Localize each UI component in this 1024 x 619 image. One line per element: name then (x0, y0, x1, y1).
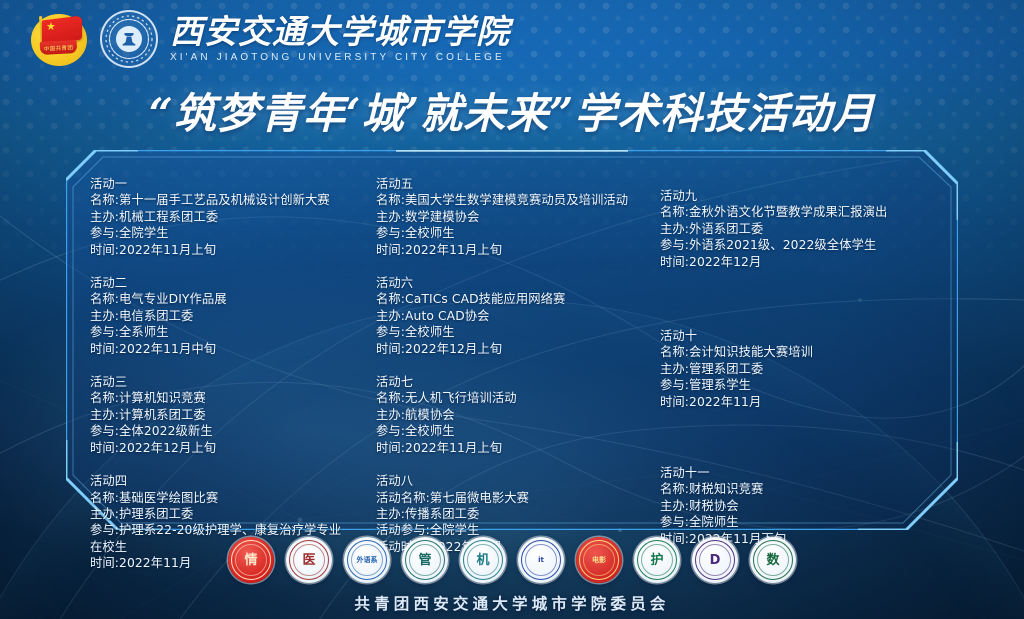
org-logo-glyph: it (538, 557, 544, 564)
activity-participants: 参与:外语系2021级、2022级全体学生 (660, 237, 958, 253)
activities-column-1: 活动一 名称:第十一届手工艺品及机械设计创新大赛 主办:机械工程系团工委 参与:… (66, 176, 361, 530)
activity-host: 主办:数学建模协会 (376, 209, 649, 225)
activity-host: 主办:航模协会 (376, 407, 649, 423)
org-logo-icon: D (692, 537, 738, 583)
organization-logo-strip: 情医外语系管机it电影护D数 (0, 532, 1024, 588)
activity-name: 名称:电气专业DIY作品展 (90, 291, 361, 307)
activity-time: 时间:2022年11月 (660, 394, 958, 410)
activity-time: 时间:2022年12月 (660, 254, 958, 270)
activities-panel: 活动一 名称:第十一届手工艺品及机械设计创新大赛 主办:机械工程系团工委 参与:… (66, 150, 958, 530)
poster-root: ★ 中国共青团 西安交通大学城市学院 XI'AN JIAOTONG UNIVER… (0, 0, 1024, 619)
university-name-en: XI'AN JIAOTONG UNIVERSITY CITY COLLEGE (170, 52, 510, 63)
activities-columns: 活动一 名称:第十一届手工艺品及机械设计创新大赛 主办:机械工程系团工委 参与:… (66, 150, 958, 530)
activity-name: 名称:美国大学生数学建模竞赛动员及培训活动 (376, 192, 649, 208)
activity-item: 活动六 名称:CaTICs CAD技能应用网络赛 主办:Auto CAD协会 参… (376, 275, 649, 357)
activity-host: 主办:计算机系团工委 (90, 407, 361, 423)
org-logo-glyph: 情 (244, 554, 257, 567)
activity-item: 活动五 名称:美国大学生数学建模竞赛动员及培训活动 主办:数学建模协会 参与:全… (376, 176, 649, 258)
activity-name: 名称:基础医学绘图比赛 (90, 490, 361, 506)
activity-item: 活动七 名称:无人机飞行培训活动 主办:航模协会 参与:全校师生 时间:2022… (376, 374, 649, 456)
activity-item: 活动十 名称:会计知识技能大赛培训 主办:管理系团工委 参与:管理系学生 时间:… (660, 328, 958, 410)
cyl-ribbon-text: 中国共青团 (40, 40, 78, 55)
activity-time: 时间:2022年12月上旬 (376, 341, 649, 357)
activity-name: 名称:财税知识竞赛 (660, 481, 958, 497)
activity-item: 活动九 名称:金秋外语文化节暨教学成果汇报演出 主办:外语系团工委 参与:外语系… (660, 188, 958, 270)
org-logo-glyph: 数 (766, 554, 779, 567)
activities-column-3: 活动九 名称:金秋外语文化节暨教学成果汇报演出 主办:外语系团工委 参与:外语系… (649, 176, 958, 530)
activity-number: 活动三 (90, 374, 361, 390)
activity-participants: 参与:全院师生 (660, 514, 958, 530)
activity-item: 活动二 名称:电气专业DIY作品展 主办:电信系团工委 参与:全系师生 时间:2… (90, 275, 361, 357)
activity-host: 主办:管理系团工委 (660, 361, 958, 377)
activity-participants: 参与:全校师生 (376, 324, 649, 340)
activity-time: 时间:2022年12月上旬 (90, 440, 361, 456)
org-logo-glyph: 管 (418, 554, 431, 567)
activity-name: 名称:会计知识技能大赛培训 (660, 344, 958, 360)
org-logo-icon: 医 (286, 537, 332, 583)
activity-item: 活动一 名称:第十一届手工艺品及机械设计创新大赛 主办:机械工程系团工委 参与:… (90, 176, 361, 258)
activity-name: 名称:第十一届手工艺品及机械设计创新大赛 (90, 192, 361, 208)
activity-number: 活动一 (90, 176, 361, 192)
org-logo-icon: 外语系 (344, 537, 390, 583)
activity-participants: 参与:全系师生 (90, 324, 361, 340)
activity-name: 名称:金秋外语文化节暨教学成果汇报演出 (660, 204, 958, 220)
university-name-cn: 西安交通大学城市学院 (170, 15, 510, 49)
org-logo-icon: it (518, 537, 564, 583)
activity-number: 活动九 (660, 188, 958, 204)
activity-time: 时间:2022年11月上旬 (376, 440, 649, 456)
activity-number: 活动七 (376, 374, 649, 390)
activity-number: 活动十 (660, 328, 958, 344)
activity-number: 活动四 (90, 473, 361, 489)
activity-number: 活动二 (90, 275, 361, 291)
org-logo-icon: 护 (634, 537, 680, 583)
activity-number: 活动五 (376, 176, 649, 192)
activity-participants: 参与:全校师生 (376, 225, 649, 241)
org-logo-icon: 数 (750, 537, 796, 583)
poster-header: ★ 中国共青团 西安交通大学城市学院 XI'AN JIAOTONG UNIVER… (0, 0, 1024, 146)
activity-name: 名称:CaTICs CAD技能应用网络赛 (376, 291, 649, 307)
page-title: “筑梦青年‘城’就未来”学术科技活动月 (0, 80, 1024, 141)
activity-participants: 参与:全校师生 (376, 423, 649, 439)
logo-row: ★ 中国共青团 西安交通大学城市学院 XI'AN JIAOTONG UNIVER… (28, 8, 510, 70)
activity-host: 主办:外语系团工委 (660, 221, 958, 237)
activity-number: 活动十一 (660, 465, 958, 481)
activity-number: 活动八 (376, 473, 649, 489)
activity-name: 名称:无人机飞行培训活动 (376, 390, 649, 406)
org-logo-glyph: D (710, 554, 721, 567)
org-logo-glyph: 机 (476, 554, 489, 567)
university-wordmark: 西安交通大学城市学院 XI'AN JIAOTONG UNIVERSITY CIT… (170, 15, 510, 63)
activity-host: 主办:传播系团工委 (376, 506, 649, 522)
activities-column-2: 活动五 名称:美国大学生数学建模竞赛动员及培训活动 主办:数学建模协会 参与:全… (361, 176, 649, 530)
activity-host: 主办:Auto CAD协会 (376, 308, 649, 324)
activity-number: 活动六 (376, 275, 649, 291)
org-logo-icon: 情 (228, 537, 274, 583)
activity-time: 时间:2022年11月上旬 (376, 242, 649, 258)
university-seal-icon (100, 10, 158, 68)
activity-participants: 参与:全院学生 (90, 225, 361, 241)
activity-host: 主办:机械工程系团工委 (90, 209, 361, 225)
footer-organization: 共青团西安交通大学城市学院委员会 (0, 592, 1024, 614)
activity-item: 活动三 名称:计算机知识竞赛 主办:计算机系团工委 参与:全体2022级新生 时… (90, 374, 361, 456)
activity-time: 时间:2022年11月中旬 (90, 341, 361, 357)
org-logo-glyph: 外语系 (357, 557, 378, 564)
activity-host: 主办:电信系团工委 (90, 308, 361, 324)
communist-youth-league-emblem-icon: ★ 中国共青团 (28, 8, 90, 70)
activity-name: 活动名称:第七届微电影大赛 (376, 490, 649, 506)
activity-name: 名称:计算机知识竞赛 (90, 390, 361, 406)
org-logo-glyph: 护 (650, 554, 663, 567)
org-logo-icon: 管 (402, 537, 448, 583)
org-logo-glyph: 电影 (592, 557, 606, 564)
org-logo-icon: 电影 (576, 537, 622, 583)
activity-time: 时间:2022年11月上旬 (90, 242, 361, 258)
org-logo-icon: 机 (460, 537, 506, 583)
org-logo-glyph: 医 (302, 554, 315, 567)
activity-host: 主办:护理系团工委 (90, 506, 361, 522)
activity-host: 主办:财税协会 (660, 498, 958, 514)
activity-participants: 参与:管理系学生 (660, 377, 958, 393)
activity-participants: 参与:全体2022级新生 (90, 423, 361, 439)
